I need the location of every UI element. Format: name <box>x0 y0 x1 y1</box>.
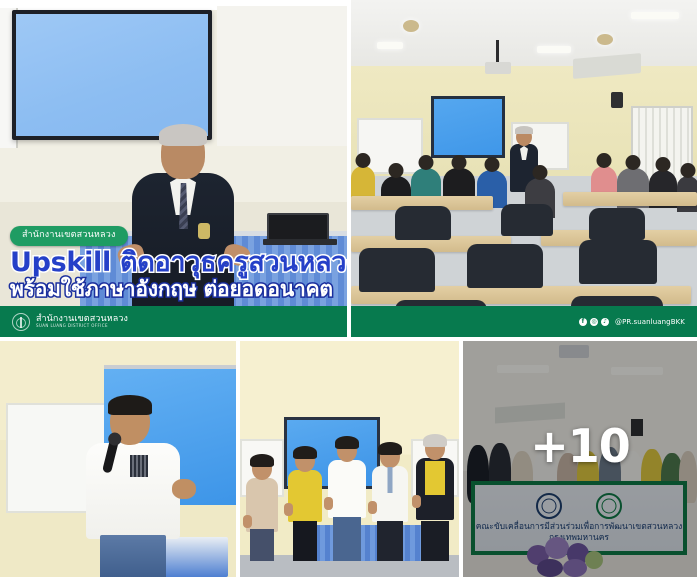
person-5-trousers <box>421 521 448 561</box>
brand-name-english: SUAN LUANG DISTRICT OFFICE <box>36 324 128 329</box>
chair <box>467 244 543 288</box>
ceiling-lamp <box>377 42 403 49</box>
ceiling-vent <box>403 20 419 32</box>
person-2-trousers <box>293 521 317 561</box>
wall-speaker <box>611 92 623 108</box>
person-4-tie <box>388 467 393 493</box>
shirt-pocket <box>130 455 148 477</box>
chair <box>579 240 657 284</box>
tile-bottom-right[interactable]: คณะขับเคลื่อนการมีส่วนร่วมเพื่อการพัฒนาเ… <box>463 341 697 577</box>
person-1-legs <box>250 529 273 561</box>
thumbs-up-gesture <box>324 497 333 510</box>
person-5 <box>416 437 454 561</box>
more-photos-count[interactable]: +10 <box>463 341 697 577</box>
ceiling-vent <box>597 34 613 45</box>
tile-top-right[interactable]: f ◎ ♪ @PR.suanluangBKK <box>351 0 697 337</box>
ceiling-lamp <box>537 46 571 53</box>
thumbs-up-gesture <box>243 515 252 528</box>
attendee <box>351 166 375 200</box>
tile-bottom-left[interactable] <box>0 341 236 577</box>
person-2 <box>288 449 322 561</box>
mic-speaker-figure <box>78 399 188 577</box>
tiktok-icon[interactable]: ♪ <box>601 318 609 326</box>
instagram-icon[interactable]: ◎ <box>590 318 598 326</box>
ceiling-lamp <box>631 12 679 19</box>
headline-line-2: พร้อมใช้ภาษาอังกฤษ ต่อยอดอนาคต <box>10 278 341 300</box>
person-2-polo <box>288 470 322 522</box>
person-4-trousers <box>377 521 403 561</box>
person-1-hair <box>250 454 274 467</box>
social-handle[interactable]: @PR.suanluangBKK <box>615 318 685 326</box>
headline-line-1: Upskill ติดอาวุธครูสวนหลวง <box>10 249 341 277</box>
office-pill-label: สำนักงานเขตสวนหลวง <box>10 226 128 246</box>
chair <box>589 208 645 240</box>
projector-screen <box>12 10 212 140</box>
speaker-hair <box>108 395 152 415</box>
tile-bottom-middle[interactable] <box>240 341 459 577</box>
brand-text: สำนักงานเขตสวนหลวง SUAN LUANG DISTRICT O… <box>36 314 128 329</box>
ceiling-projector <box>485 62 511 74</box>
speaker-open-hand <box>172 479 196 499</box>
speaker-jeans <box>100 535 166 577</box>
headline-overlay: สำนักงานเขตสวนหลวง Upskill ติดอาวุธครูสว… <box>0 222 347 306</box>
person-4 <box>372 445 408 561</box>
whiteboard-right <box>217 6 347 146</box>
brand-footer-left: สำนักงานเขตสวนหลวง SUAN LUANG DISTRICT O… <box>0 306 347 337</box>
thumbs-up-gesture <box>284 503 293 516</box>
thumbs-up-gesture <box>368 501 377 514</box>
photo-collage: สำนักงานเขตสวนหลวง Upskill ติดอาวุธครูสว… <box>0 0 697 577</box>
desk <box>563 192 697 206</box>
facebook-icon[interactable]: f <box>579 318 587 326</box>
presenter-hair <box>159 124 207 146</box>
person-4-hair <box>378 442 402 455</box>
chair <box>359 248 435 292</box>
district-emblem-icon <box>12 313 30 331</box>
person-5-shirt <box>425 461 445 495</box>
person-3-shirt <box>328 460 366 518</box>
social-links[interactable]: f ◎ ♪ @PR.suanluangBKK <box>579 318 685 326</box>
projector-screen <box>431 96 505 158</box>
brand-footer-right: f ◎ ♪ @PR.suanluangBKK <box>351 306 697 337</box>
person-3-hair <box>335 436 359 449</box>
tile-top-left[interactable]: สำนักงานเขตสวนหลวง Upskill ติดอาวุธครูสว… <box>0 0 347 337</box>
chair <box>501 204 553 236</box>
thumbs-up-gesture <box>412 495 421 508</box>
person-3 <box>328 439 366 561</box>
person-5-hair <box>423 434 447 447</box>
person-3-jeans <box>333 517 360 561</box>
chair <box>395 206 451 240</box>
presenter-hair <box>515 126 533 134</box>
person-2-hair <box>293 446 317 459</box>
person-1 <box>246 457 278 561</box>
